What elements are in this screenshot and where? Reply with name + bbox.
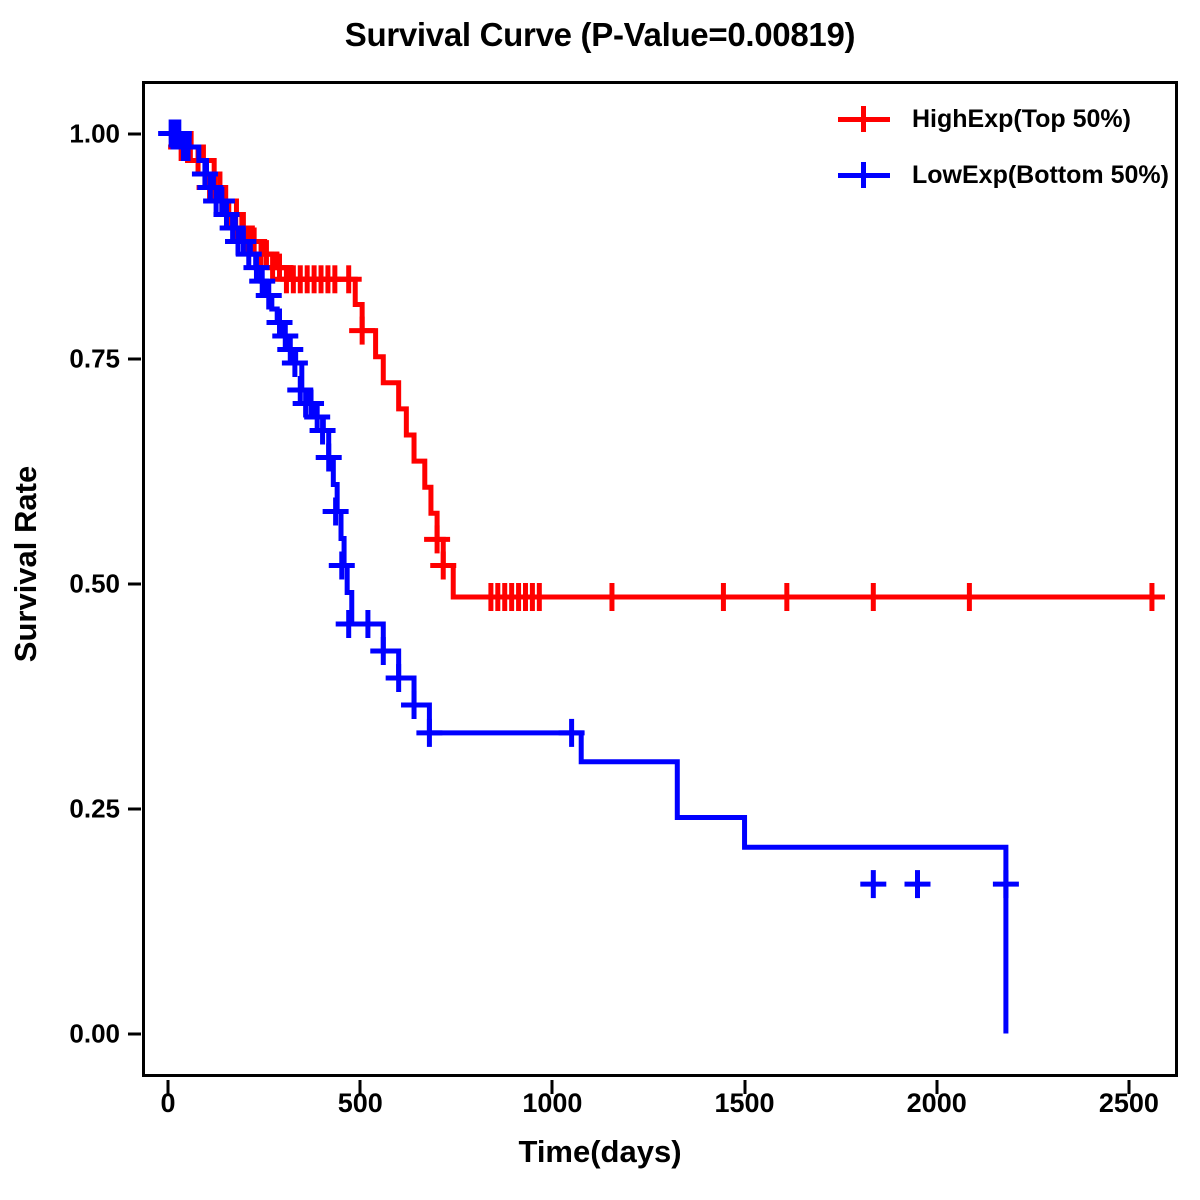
y-axis-title: Survival Rate	[8, 434, 44, 694]
x-axis-tick-mark	[1127, 1080, 1130, 1094]
plot-area	[142, 81, 1178, 1077]
censor-markers-low	[158, 120, 1019, 899]
y-axis-tick-label: 0.75	[34, 343, 120, 374]
x-axis-tick-mark	[167, 1080, 170, 1094]
x-axis-tick-mark	[359, 1080, 362, 1094]
x-axis-tick-mark	[551, 1080, 554, 1094]
y-axis-tick-mark	[128, 357, 141, 360]
plus-marker-icon	[838, 160, 890, 190]
legend-label-low: LowExp(Bottom 50%)	[912, 161, 1169, 190]
survival-curve-line-high	[168, 134, 1152, 598]
legend-item-high[interactable]: HighExp(Top 50%)	[838, 104, 1169, 134]
censor-markers-high	[159, 120, 1165, 612]
plot-svg	[145, 84, 1175, 1074]
y-axis-tick-label: 0.00	[34, 1018, 120, 1049]
x-axis-tick-mark	[743, 1080, 746, 1094]
legend-label-high: HighExp(Top 50%)	[912, 105, 1131, 134]
legend: HighExp(Top 50%) LowExp(Bottom 50%)	[838, 104, 1169, 190]
y-axis-tick-label: 0.25	[34, 793, 120, 824]
legend-item-low[interactable]: LowExp(Bottom 50%)	[838, 160, 1169, 190]
y-axis-tick-label: 1.00	[34, 118, 120, 149]
x-axis-tick-mark	[935, 1080, 938, 1094]
x-axis-title: Time(days)	[0, 1134, 1200, 1170]
survival-curve-figure: Survival Curve (P-Value=0.00819) HighExp…	[0, 0, 1200, 1200]
chart-title: Survival Curve (P-Value=0.00819)	[0, 16, 1200, 54]
plus-marker-icon	[838, 104, 890, 134]
y-axis-tick-label: 0.50	[34, 568, 120, 599]
y-axis-tick-mark	[128, 582, 141, 585]
y-axis-tick-mark	[128, 1032, 141, 1035]
y-axis-tick-mark	[128, 132, 141, 135]
y-axis-tick-mark	[128, 807, 141, 810]
